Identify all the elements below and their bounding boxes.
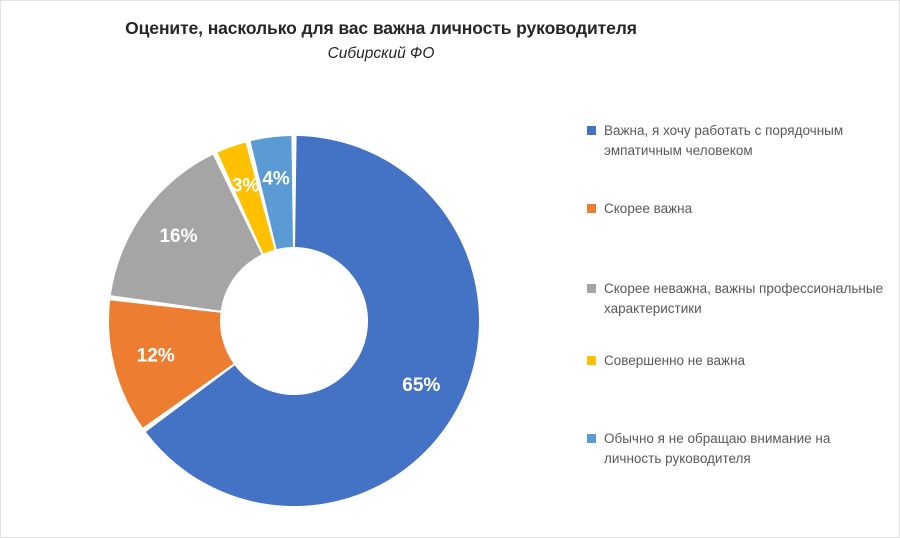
- donut-slice-label: 3%: [232, 176, 260, 197]
- legend-color-swatch: [587, 434, 596, 443]
- donut-slice-label: 4%: [262, 168, 290, 189]
- legend-item[interactable]: Обычно я не обращаю внимание на личность…: [587, 429, 887, 468]
- legend-item[interactable]: Скорее неважна, важны профессиональные х…: [587, 279, 887, 318]
- legend-item[interactable]: Скорее важна: [587, 199, 887, 219]
- title-block: Оцените, насколько для вас важна личност…: [1, 17, 761, 66]
- legend-item[interactable]: Совершенно не важна: [587, 351, 887, 371]
- legend-item[interactable]: Важна, я хочу работать с порядочным эмпа…: [587, 121, 887, 160]
- legend-color-swatch: [587, 356, 596, 365]
- donut-slice-label: 65%: [402, 375, 440, 396]
- chart-container: Оцените, насколько для вас важна личност…: [0, 0, 900, 538]
- legend-item-label: Обычно я не обращаю внимание на личность…: [604, 429, 886, 468]
- donut-slices: [109, 136, 479, 506]
- legend-color-swatch: [587, 284, 596, 293]
- donut-chart-plot-area: 65%12%16%3%4%: [101, 114, 491, 514]
- chart-subtitle: Сибирский ФО: [1, 42, 761, 66]
- legend-item-label: Скорее неважна, важны профессиональные х…: [604, 279, 886, 318]
- page-title: Оцените, насколько для вас важна личност…: [1, 17, 761, 39]
- donut-slice-label: 12%: [137, 346, 175, 367]
- legend-color-swatch: [587, 204, 596, 213]
- legend-item-label: Скорее важна: [604, 199, 692, 219]
- donut-slice-label: 16%: [159, 226, 197, 247]
- donut-chart-svg: 65%12%16%3%4%: [101, 114, 491, 514]
- legend-color-swatch: [587, 126, 596, 135]
- legend-item-label: Совершенно не важна: [604, 351, 745, 371]
- legend-item-label: Важна, я хочу работать с порядочным эмпа…: [604, 121, 886, 160]
